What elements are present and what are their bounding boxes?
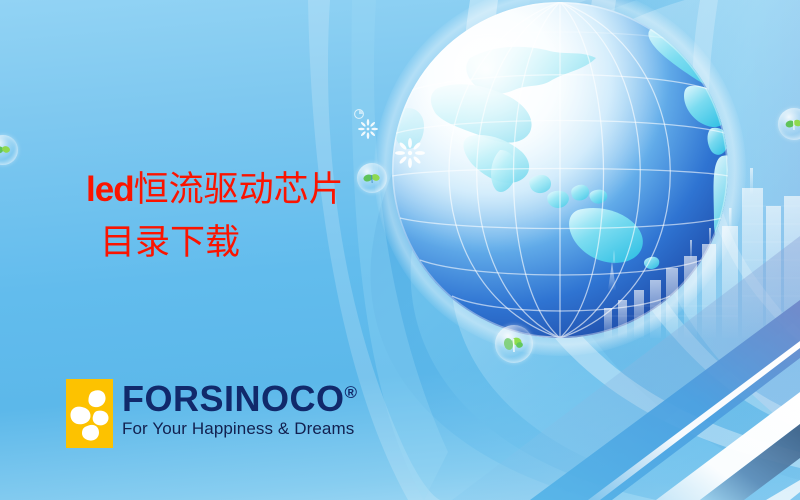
headline-latin: led xyxy=(86,170,134,209)
headline-text: led恒流驱动芯片 目录下载 xyxy=(86,163,506,270)
sprout-icon xyxy=(784,116,800,132)
company-logo[interactable]: FORSINOCO® For Your Happiness & Dreams xyxy=(66,379,357,448)
headline-cjk: 恒流驱动芯片 xyxy=(134,170,344,210)
sprout-icon xyxy=(502,334,526,354)
headline-line-1: led恒流驱动芯片 xyxy=(86,163,506,217)
logo-wordmark: FORSINOCO® For Your Happiness & Dreams xyxy=(122,380,357,439)
forsinoco-pinwheel-flower-icon xyxy=(66,379,113,448)
brand-name-text: FORSINOCO xyxy=(122,378,345,419)
bubble-lower xyxy=(495,325,533,363)
promo-banner: led恒流驱动芯片 目录下载 FORSINOC xyxy=(0,0,800,500)
registered-mark: ® xyxy=(345,383,358,402)
brand-tagline: For Your Happiness & Dreams xyxy=(122,419,357,439)
sparkle-flower-small xyxy=(358,119,378,139)
headline-line-2: 目录下载 xyxy=(86,217,506,270)
sprout-icon xyxy=(0,143,12,157)
bubble-left-edge xyxy=(0,135,18,165)
brand-name: FORSINOCO® xyxy=(122,380,357,418)
sparkle-dot xyxy=(353,108,365,120)
bubble-right-edge xyxy=(778,108,800,140)
